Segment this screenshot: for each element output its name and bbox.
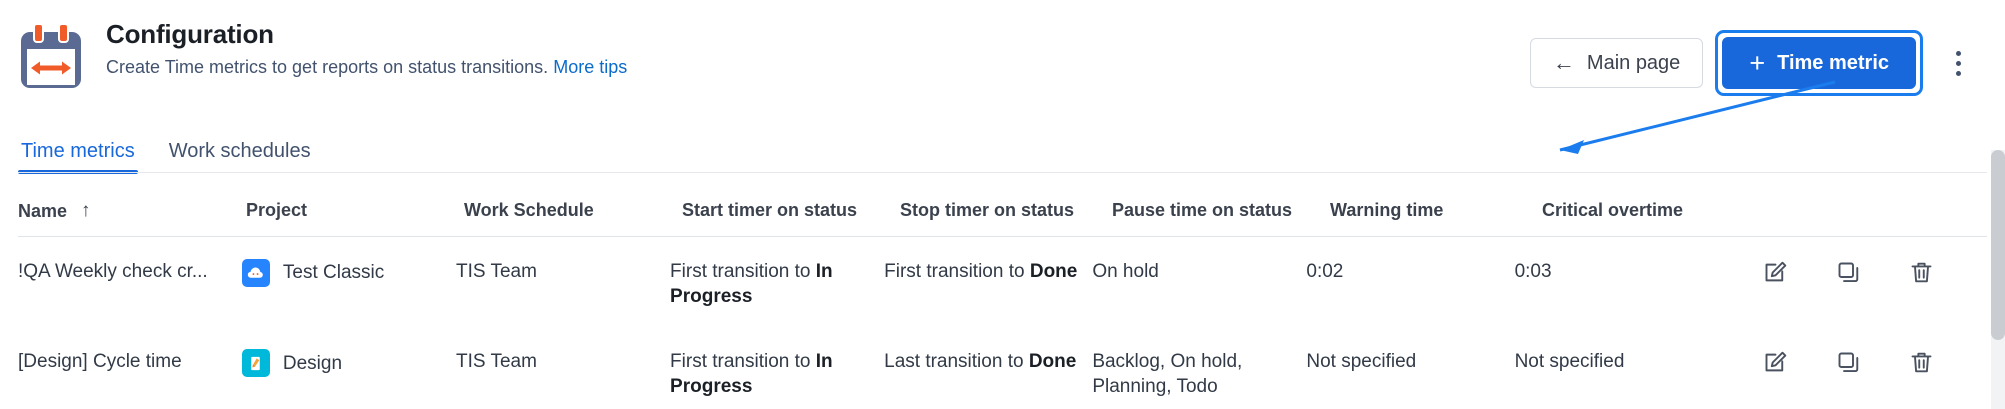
vertical-ellipsis-icon [1956,51,1961,56]
time-metric-button-focus-ring: + Time metric [1715,30,1923,96]
plus-icon: + [1749,50,1765,77]
column-header-critical-overtime[interactable]: Critical overtime [1542,200,1794,221]
arrow-left-icon: ← [1553,52,1575,74]
tab-bar: Time metrics Work schedules [18,128,2005,174]
vertical-scrollbar-track[interactable] [1991,150,2005,409]
clone-icon[interactable] [1835,349,1862,376]
cell-project-label: Design [283,351,342,376]
cell-critical-overtime: Not specified [1515,349,1762,374]
clone-icon[interactable] [1835,259,1862,286]
project-avatar [242,349,270,377]
cell-stop-timer: Last transition to Done [884,349,1092,374]
tab-work-schedules[interactable]: Work schedules [166,140,314,174]
cell-critical-overtime: 0:03 [1515,259,1762,284]
cell-start-timer-prefix: First transition to [670,261,816,282]
page-subtitle: Create Time metrics to get reports on st… [106,56,627,79]
column-header-warning-time[interactable]: Warning time [1330,200,1542,221]
cell-name: [Design] Cycle time [18,349,242,374]
page-subtitle-text: Create Time metrics to get reports on st… [106,57,548,77]
calendar-time-metric-icon [18,22,84,88]
delete-icon[interactable] [1908,259,1935,286]
main-page-button-label: Main page [1587,52,1680,75]
header-text-group: Configuration Create Time metrics to get… [106,16,627,79]
cell-work-schedule: TIS Team [456,259,670,284]
cell-start-timer-prefix: First transition to [670,351,816,372]
notepad-pencil-avatar-icon [247,355,264,372]
cell-actions [1762,259,1987,286]
cell-pause-time: Backlog, On hold, Planning, Todo [1092,349,1306,399]
cell-work-schedule: TIS Team [456,349,670,374]
double-arrow-icon [31,60,71,76]
more-tips-link[interactable]: More tips [553,57,627,77]
cell-pause-time: On hold [1092,259,1306,284]
cell-stop-timer-prefix: Last transition to [884,351,1029,372]
cell-stop-timer-status: Done [1030,261,1078,282]
configuration-page: Configuration Create Time metrics to get… [0,0,2005,409]
cell-project: Design [242,349,456,377]
edit-icon[interactable] [1762,259,1789,286]
tab-time-metrics[interactable]: Time metrics [18,140,138,174]
sort-ascending-icon: ↑ [81,200,91,222]
cell-start-timer: First transition to In Progress [670,259,884,309]
page-title: Configuration [106,20,627,50]
project-avatar [242,259,270,287]
column-header-name-label: Name [18,201,67,222]
cell-stop-timer-prefix: First transition to [884,261,1030,282]
column-header-project[interactable]: Project [246,200,464,221]
cell-name: !QA Weekly check cr... [18,259,242,284]
table-row[interactable]: [Design] Cycle time Design TIS Team Firs… [18,327,1987,409]
column-header-work-schedule[interactable]: Work Schedule [464,200,682,221]
cell-project: Test Classic [242,259,456,287]
header-left-group: Configuration Create Time metrics to get… [18,16,627,88]
more-menu-button[interactable] [1935,38,1981,88]
cell-warning-time: 0:02 [1306,259,1514,284]
column-header-name[interactable]: Name ↑ [18,200,246,222]
page-header: Configuration Create Time metrics to get… [0,0,2005,112]
cell-actions [1762,349,1987,376]
cell-project-label: Test Classic [283,260,384,285]
delete-icon[interactable] [1908,349,1935,376]
add-time-metric-button-label: Time metric [1777,52,1889,75]
column-header-stop-timer[interactable]: Stop timer on status [900,200,1112,221]
cell-warning-time: Not specified [1306,349,1514,374]
add-time-metric-button[interactable]: + Time metric [1722,37,1916,89]
column-header-start-timer[interactable]: Start timer on status [682,200,900,221]
cell-stop-timer: First transition to Done [884,259,1092,284]
main-page-button[interactable]: ← Main page [1530,38,1703,88]
cell-start-timer: First transition to In Progress [670,349,884,399]
edit-icon[interactable] [1762,349,1789,376]
tab-bar-divider [18,172,1987,173]
header-actions-group: ← Main page + Time metric [1530,16,1981,96]
cell-stop-timer-status: Done [1029,351,1077,372]
cloud-avatar-icon [247,265,264,282]
column-header-pause-time[interactable]: Pause time on status [1112,200,1330,221]
table-header-row: Name ↑ Project Work Schedule Start timer… [18,200,1987,237]
vertical-scrollbar-thumb[interactable] [1991,150,2005,340]
time-metrics-table: Name ↑ Project Work Schedule Start timer… [0,200,2005,409]
table-row[interactable]: !QA Weekly check cr... Test Classic TIS … [18,237,1987,327]
